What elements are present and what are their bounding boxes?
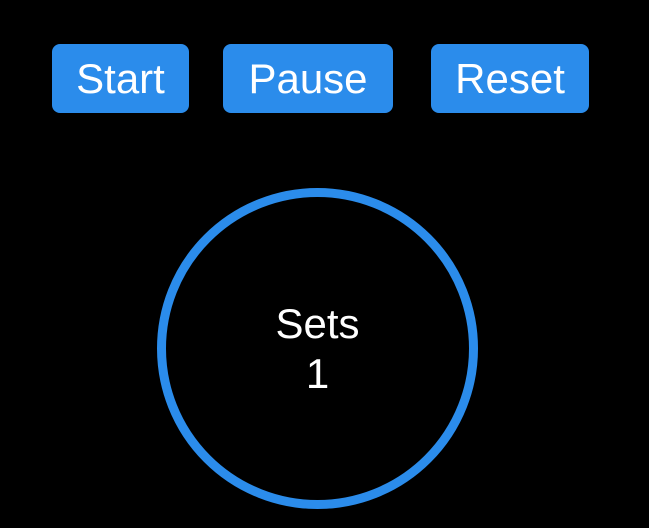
sets-label: Sets [275,299,359,349]
pause-button[interactable]: Pause [223,44,393,113]
timer-app-screen: Start Pause Reset Sets 1 [0,0,649,528]
sets-progress-circle[interactable]: Sets 1 [157,188,478,509]
start-button[interactable]: Start [52,44,189,113]
reset-button[interactable]: Reset [431,44,589,113]
control-button-row: Start Pause Reset [0,44,649,113]
sets-count-value: 1 [306,349,329,399]
sets-circle-content: Sets 1 [157,188,478,509]
